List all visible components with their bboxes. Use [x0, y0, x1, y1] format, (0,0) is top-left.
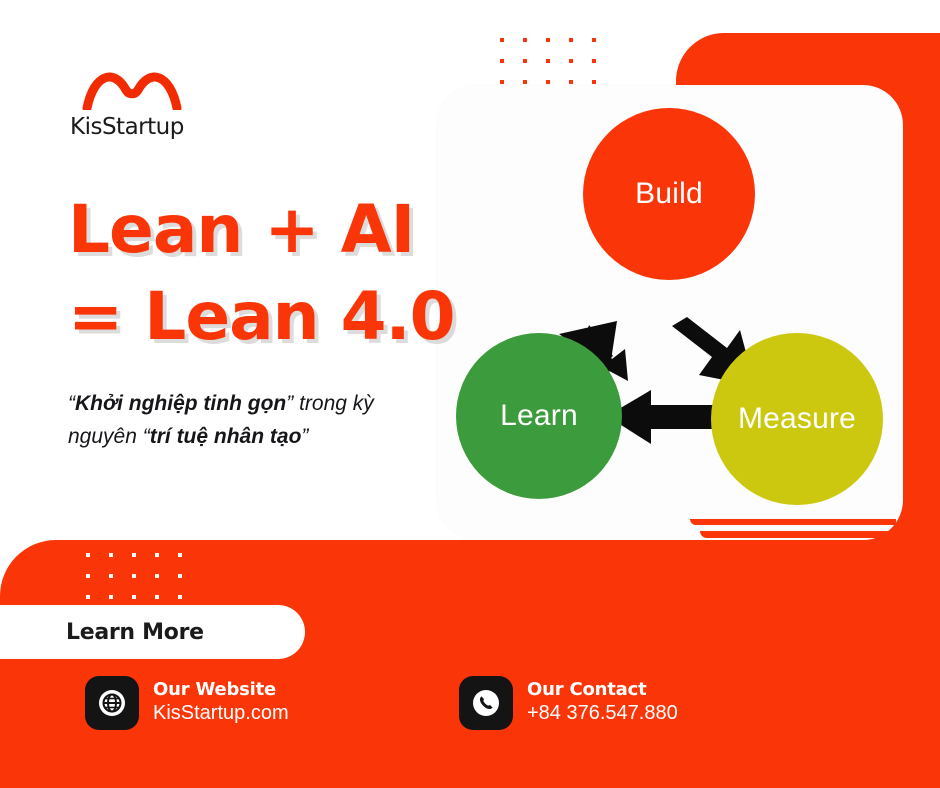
cycle-node-learn-label: Learn [500, 399, 578, 433]
footer-website[interactable]: Our Website KisStartup.com [85, 676, 289, 730]
subtitle-quote-open-1: “ [68, 392, 75, 415]
cycle-node-measure-label: Measure [738, 402, 856, 436]
learn-more-button-label: Learn More [66, 620, 204, 645]
brand-logo-text: KisStartup [70, 114, 184, 140]
footer-website-value[interactable]: KisStartup.com [153, 701, 289, 726]
decor-dot-grid-bottom [86, 553, 182, 599]
page-title-line-1: Lean + AI [68, 186, 468, 273]
decor-dot-grid-top [500, 38, 596, 84]
globe-icon [85, 676, 139, 730]
poster-canvas: KisStartup Lean + AI = Lean 4.0 “Khởi ng… [0, 0, 940, 788]
phone-icon [459, 676, 513, 730]
footer-website-body: Our Website KisStartup.com [153, 680, 289, 726]
footer-contact-body: Our Contact +84 376.547.880 [527, 680, 678, 726]
kisstartup-arch-icon [82, 64, 182, 110]
subtitle-bold-1: Khởi nghiệp tinh gọn [75, 392, 286, 415]
build-measure-learn-diagram: Build Measure Learn [437, 85, 903, 540]
learn-more-button[interactable]: Learn More [0, 605, 305, 659]
page-title-line-2: = Lean 4.0 [68, 273, 468, 360]
cycle-node-learn[interactable]: Learn [456, 333, 622, 499]
footer-contact-value[interactable]: +84 376.547.880 [527, 701, 678, 726]
arrow-measure-to-learn [607, 390, 718, 444]
footer-contact[interactable]: Our Contact +84 376.547.880 [459, 676, 678, 730]
footer-website-title: Our Website [153, 680, 289, 701]
cycle-node-measure[interactable]: Measure [711, 333, 883, 505]
brand-logo[interactable]: KisStartup [70, 64, 250, 146]
page-title: Lean + AI = Lean 4.0 [68, 186, 468, 360]
subtitle-quote-open-2: “ [143, 425, 150, 448]
footer-contact-title: Our Contact [527, 680, 678, 701]
page-subtitle: “Khởi nghiệp tinh gọn” trong kỳ nguyên “… [68, 388, 428, 453]
cycle-node-build-label: Build [635, 177, 703, 211]
subtitle-bold-2: trí tuệ nhân tạo [150, 425, 302, 448]
cycle-node-build[interactable]: Build [583, 108, 755, 280]
subtitle-quote-close-2: ” [301, 425, 308, 448]
